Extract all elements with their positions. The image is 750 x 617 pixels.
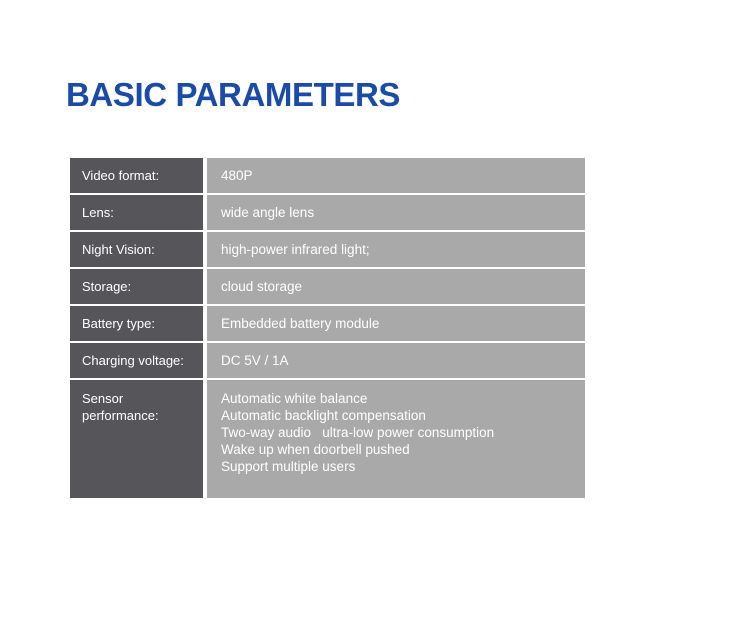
- spec-value-line: Wake up when doorbell pushed: [221, 441, 585, 458]
- table-row: Sensorperformance:Automatic white balanc…: [70, 380, 585, 498]
- spec-label-line: Charging voltage:: [82, 352, 203, 369]
- spec-label-line: Storage:: [82, 278, 203, 295]
- spec-value-line: Automatic white balance: [221, 390, 585, 407]
- table-row: Battery type:Embedded battery module: [70, 306, 585, 341]
- spec-label-cell: Charging voltage:: [70, 343, 203, 378]
- spec-label-line: Video format:: [82, 167, 203, 184]
- spec-value-cell: Automatic white balanceAutomatic backlig…: [207, 380, 585, 498]
- spec-value-line: Embedded battery module: [221, 315, 585, 332]
- spec-label-line: performance:: [82, 407, 203, 424]
- spec-value-cell: Embedded battery module: [207, 306, 585, 341]
- spec-value-line: DC 5V / 1A: [221, 352, 585, 369]
- spec-value-cell: cloud storage: [207, 269, 585, 304]
- spec-label-cell: Night Vision:: [70, 232, 203, 267]
- spec-label-line: Sensor: [82, 390, 203, 407]
- spec-label-cell: Sensorperformance:: [70, 380, 203, 498]
- spec-value-cell: wide angle lens: [207, 195, 585, 230]
- spec-value-line: wide angle lens: [221, 204, 585, 221]
- spec-label-cell: Storage:: [70, 269, 203, 304]
- specifications-table: Video format:480PLens:wide angle lensNig…: [70, 158, 585, 498]
- page-title: BASIC PARAMETERS: [66, 76, 400, 114]
- table-row: Charging voltage:DC 5V / 1A: [70, 343, 585, 378]
- table-row: Storage:cloud storage: [70, 269, 585, 304]
- spec-label-line: Battery type:: [82, 315, 203, 332]
- spec-label-cell: Battery type:: [70, 306, 203, 341]
- spec-label-line: Lens:: [82, 204, 203, 221]
- spec-value-line: Support multiple users: [221, 458, 585, 475]
- spec-value-line: Automatic backlight compensation: [221, 407, 585, 424]
- page-root: BASIC PARAMETERS Video format:480PLens:w…: [0, 0, 750, 617]
- spec-value-cell: DC 5V / 1A: [207, 343, 585, 378]
- spec-label-line: Night Vision:: [82, 241, 203, 258]
- spec-value-line: high-power infrared light;: [221, 241, 585, 258]
- spec-label-cell: Video format:: [70, 158, 203, 193]
- spec-value-cell: high-power infrared light;: [207, 232, 585, 267]
- spec-value-cell: 480P: [207, 158, 585, 193]
- table-row: Lens:wide angle lens: [70, 195, 585, 230]
- table-row: Video format:480P: [70, 158, 585, 193]
- spec-value-line: 480P: [221, 167, 585, 184]
- table-row: Night Vision:high-power infrared light;: [70, 232, 585, 267]
- spec-label-cell: Lens:: [70, 195, 203, 230]
- spec-value-line: cloud storage: [221, 278, 585, 295]
- spec-value-line: Two-way audio ultra-low power consumptio…: [221, 424, 585, 441]
